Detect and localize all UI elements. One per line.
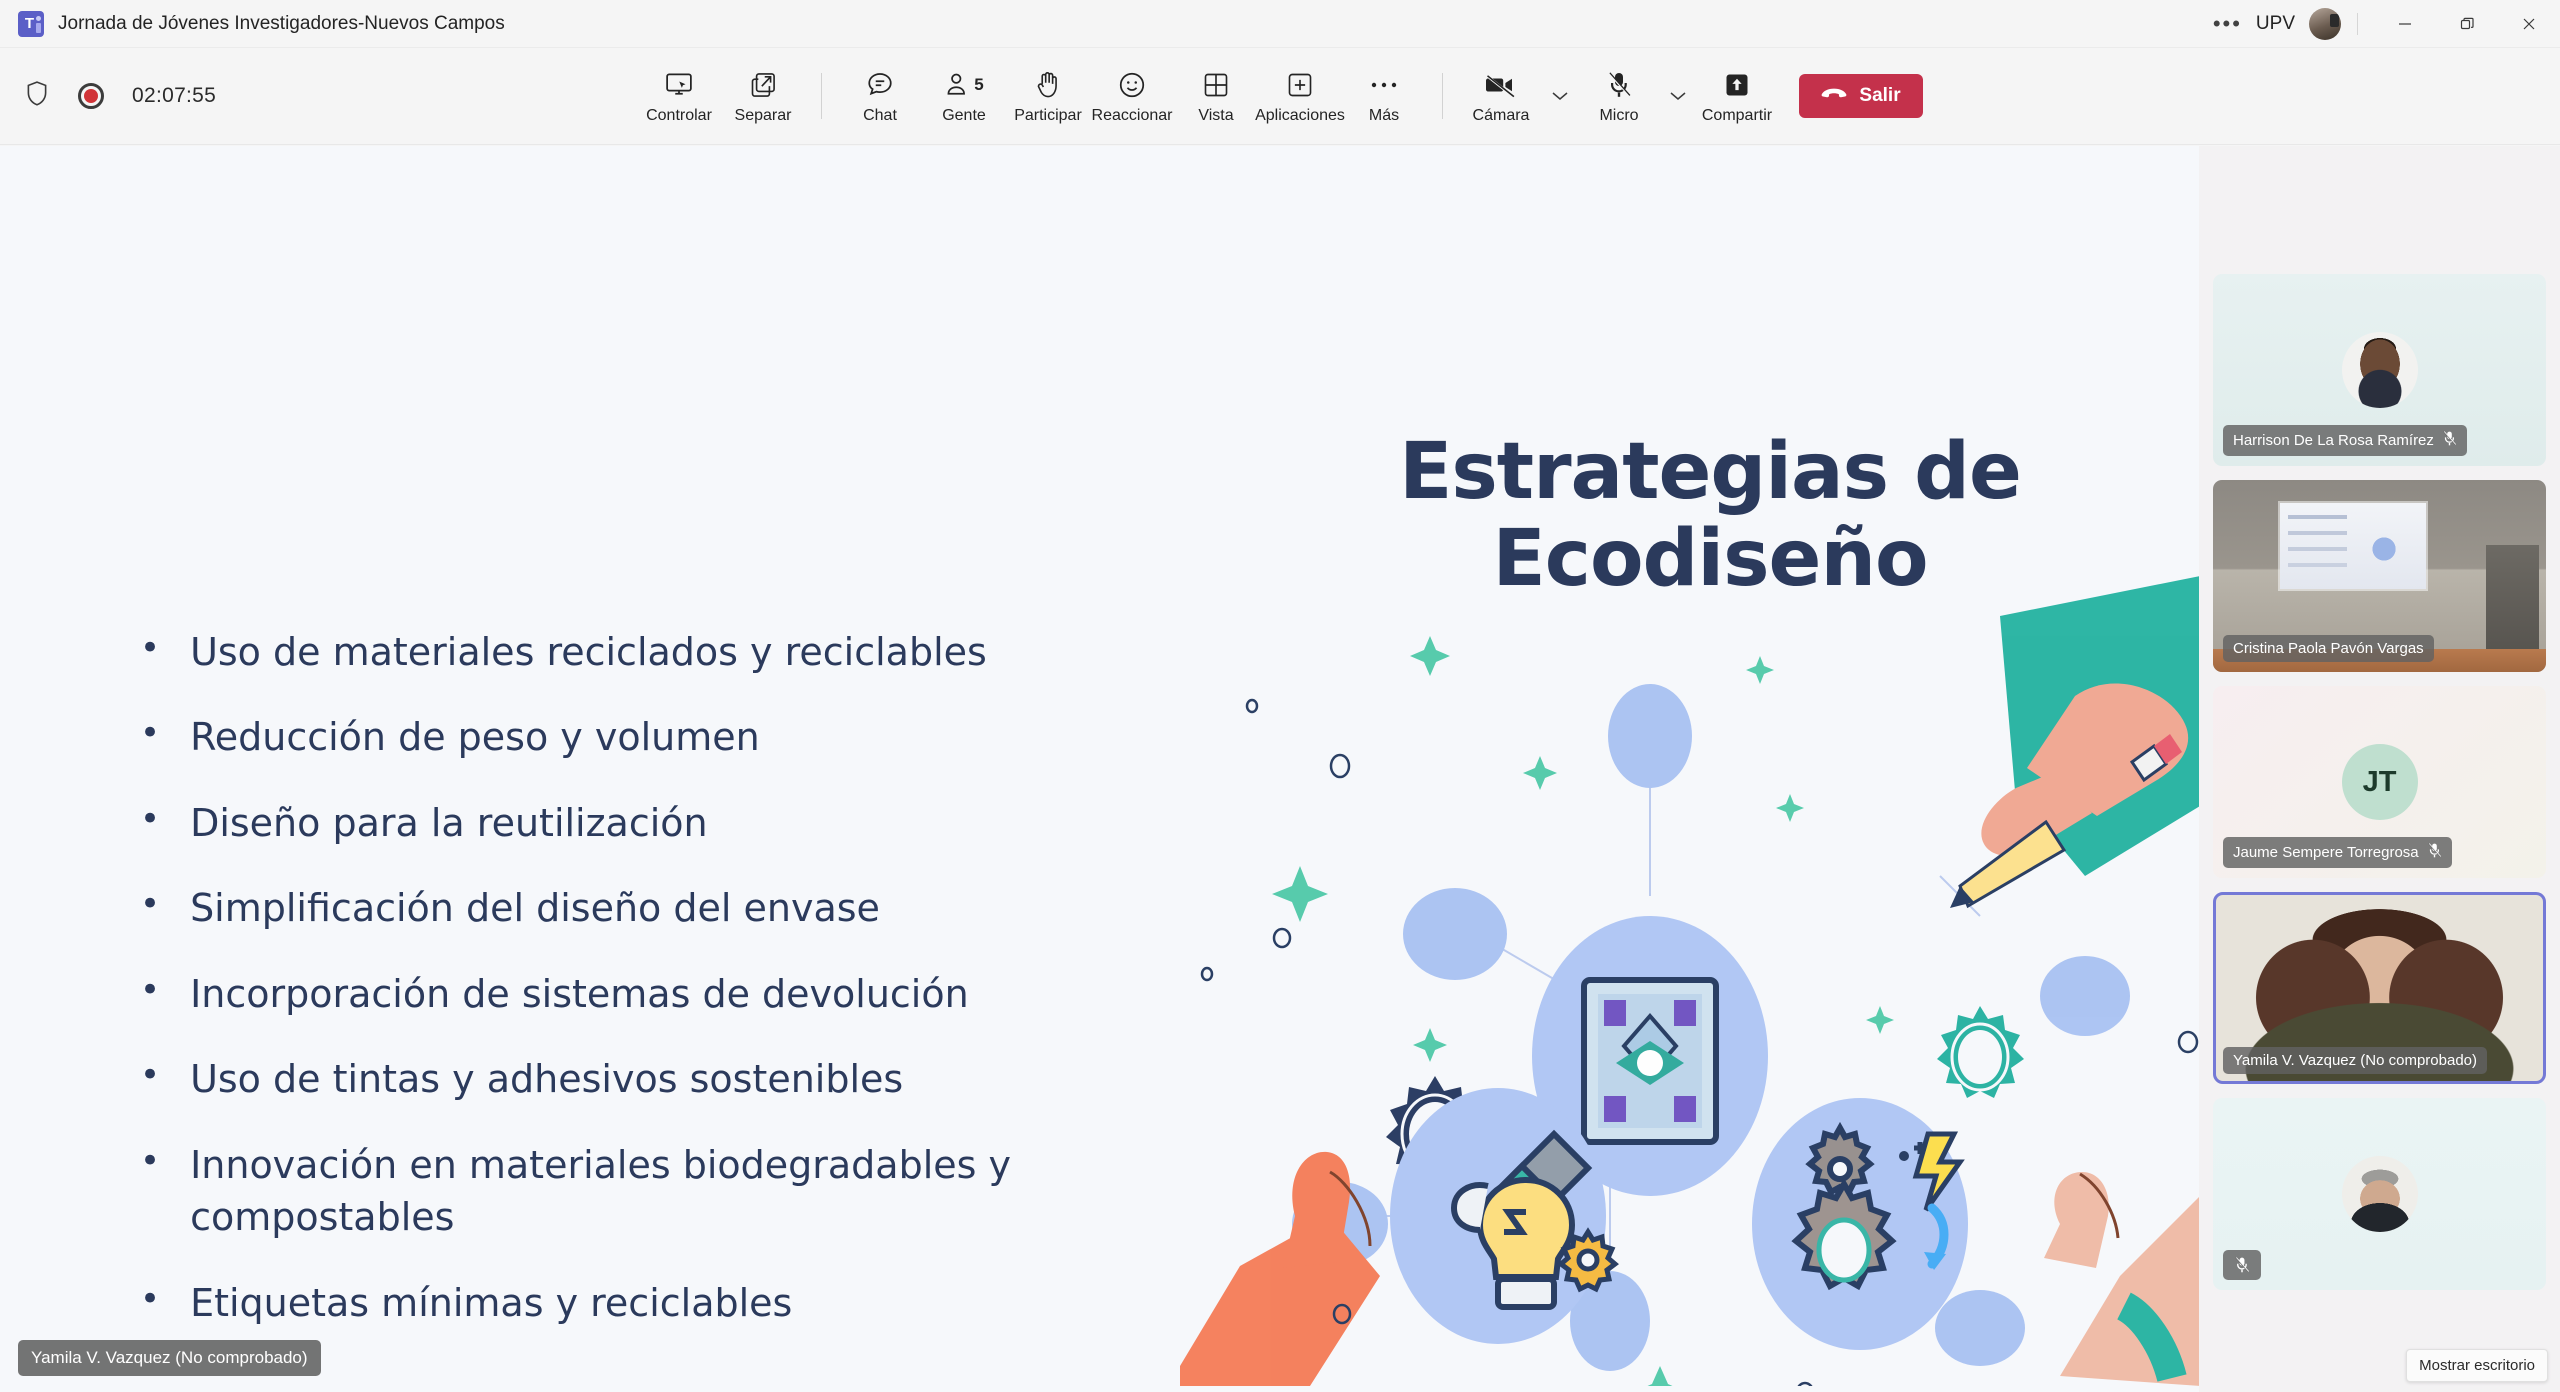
list-item: • Reducción de peso y volumen [140, 711, 1270, 763]
toolbar-label: Aplicaciones [1255, 108, 1345, 124]
give-control-icon [664, 69, 694, 101]
toolbar-label: Más [1369, 108, 1399, 124]
participants-rail[interactable]: Harrison De La Rosa Ramírez Cristina Pao… [2199, 146, 2560, 1392]
ecodesign-gears-hands-illustration [1180, 576, 2199, 1386]
participant-name: Jaume Sempere Torregrosa [2233, 844, 2419, 861]
bullet-text: Innovación en materiales biodegradables … [190, 1139, 1270, 1244]
list-item: • Diseño para la reutilización [140, 797, 1270, 849]
avatar[interactable] [2309, 8, 2341, 40]
toolbar-label: Chat [863, 108, 897, 124]
divider [2357, 13, 2358, 35]
toolbar-button-mas[interactable]: Más [1342, 48, 1426, 145]
avatar [2342, 332, 2418, 408]
slide-title-line-1: Estrategias de [1330, 429, 2090, 516]
bullet-text: Reducción de peso y volumen [190, 711, 1270, 763]
chevron-down-icon[interactable] [1543, 48, 1577, 145]
participant-name-chip: Yamila V. Vazquez (No comprobado) [2223, 1047, 2487, 1074]
bullet-marker: • [140, 882, 160, 928]
list-item: • Simplificación del diseño del envase [140, 882, 1270, 934]
bullet-text: Etiquetas mínimas y reciclables [190, 1277, 1270, 1329]
microphone-off-icon [2442, 430, 2457, 451]
bullet-marker: • [140, 1053, 160, 1099]
toolbar-label: Separar [735, 108, 792, 124]
participant-tile-unnamed[interactable] [2213, 1098, 2546, 1290]
raise-hand-icon [1034, 69, 1062, 101]
meeting-toolbar-left: 02:07:55 [0, 80, 216, 113]
reactions-smiley-icon [1117, 69, 1147, 101]
list-item: • Incorporación de sistemas de devolució… [140, 968, 1270, 1020]
bullet-text: Uso de materiales reciclados y reciclabl… [190, 626, 1270, 678]
shield-icon[interactable] [24, 80, 50, 113]
camera-off-icon [1485, 69, 1517, 101]
bullet-marker: • [140, 711, 160, 757]
avatar-initials: JT [2342, 744, 2418, 820]
avatar-initials-text: JT [2363, 766, 2397, 799]
more-horizontal-icon [1369, 69, 1399, 101]
participant-tile-harrison[interactable]: Harrison De La Rosa Ramírez [2213, 274, 2546, 466]
participant-tile-jaume[interactable]: JT Jaume Sempere Torregrosa [2213, 686, 2546, 878]
participant-name: Harrison De La Rosa Ramírez [2233, 432, 2434, 449]
list-item: • Uso de materiales reciclados y recicla… [140, 626, 1270, 678]
toolbar-divider [1442, 73, 1443, 119]
leave-call-button[interactable]: Salir [1799, 74, 1923, 118]
bullet-text: Uso de tintas y adhesivos sostenibles [190, 1053, 1270, 1105]
leave-label: Salir [1859, 85, 1900, 107]
participant-name: Yamila V. Vazquez (No comprobado) [2233, 1052, 2477, 1069]
toolbar-button-reaccionar[interactable]: Reaccionar [1090, 48, 1174, 145]
more-horizontal-icon[interactable]: ••• [2199, 11, 2256, 37]
list-item: • Etiquetas mínimas y reciclables [140, 1277, 1270, 1329]
meeting-toolbar-center: Controlar Separar Chat [637, 48, 1923, 145]
toolbar-label: Micro [1599, 108, 1638, 124]
hang-up-icon [1821, 85, 1847, 107]
toolbar-button-separar[interactable]: Separar [721, 48, 805, 145]
chevron-down-icon[interactable] [1661, 48, 1695, 145]
minimize-icon[interactable] [2374, 0, 2436, 48]
chat-icon [865, 69, 895, 101]
meeting-stage[interactable]: Estrategias de Ecodiseño • Uso de materi… [0, 146, 2199, 1392]
participant-tile-yamila[interactable]: Yamila V. Vazquez (No comprobado) [2213, 892, 2546, 1084]
apps-plus-icon [1286, 69, 1314, 101]
pop-out-icon [749, 69, 777, 101]
participant-name-chip: Cristina Paola Pavón Vargas [2223, 635, 2434, 662]
toolbar-button-aplicaciones[interactable]: Aplicaciones [1258, 48, 1342, 145]
toolbar-label: Controlar [646, 108, 712, 124]
toolbar-button-gente[interactable]: 5 Gente [922, 48, 1006, 145]
bullet-text: Diseño para la reutilización [190, 797, 1270, 849]
window-title-bar: T Jornada de Jóvenes Investigadores-Nuev… [0, 0, 2560, 48]
avatar [2342, 1156, 2418, 1232]
people-count-badge: 5 [974, 75, 983, 95]
window-title: Jornada de Jóvenes Investigadores-Nuevos… [58, 13, 505, 35]
bullet-marker: • [140, 1277, 160, 1323]
toolbar-button-vista[interactable]: Vista [1174, 48, 1258, 145]
participant-tile-cristina[interactable]: Cristina Paola Pavón Vargas [2213, 480, 2546, 672]
presenter-name-chip: Yamila V. Vazquez (No comprobado) [18, 1340, 321, 1376]
share-screen-icon [1723, 69, 1751, 101]
meeting-timer: 02:07:55 [132, 84, 216, 108]
toolbar-divider [821, 73, 822, 119]
participant-name-chip: Jaume Sempere Torregrosa [2223, 837, 2452, 868]
toolbar-button-chat[interactable]: Chat [838, 48, 922, 145]
title-bar-right: ••• UPV [2199, 0, 2560, 48]
microphone-off-icon [2427, 842, 2442, 863]
list-item: • Innovación en materiales biodegradable… [140, 1139, 1270, 1244]
toolbar-button-participar[interactable]: Participar [1006, 48, 1090, 145]
toolbar-button-camera[interactable]: Cámara [1459, 48, 1543, 145]
people-icon: 5 [944, 69, 983, 101]
slide-bullet-list: • Uso de materiales reciclados y recicla… [140, 626, 1270, 1362]
microphone-off-icon [1606, 69, 1632, 101]
bullet-marker: • [140, 626, 160, 672]
toolbar-label: Gente [942, 108, 986, 124]
microphone-off-icon [2223, 1250, 2261, 1280]
show-desktop-tooltip[interactable]: Mostrar escritorio [2406, 1349, 2548, 1382]
participant-name: Cristina Paola Pavón Vargas [2233, 640, 2424, 657]
toolbar-button-controlar[interactable]: Controlar [637, 48, 721, 145]
bullet-text: Simplificación del diseño del envase [190, 882, 1270, 934]
participant-name-chip: Harrison De La Rosa Ramírez [2223, 425, 2467, 456]
toolbar-label: Participar [1014, 108, 1082, 124]
bullet-marker: • [140, 1139, 160, 1185]
list-item: • Uso de tintas y adhesivos sostenibles [140, 1053, 1270, 1105]
bullet-text: Incorporación de sistemas de devolución [190, 968, 1270, 1020]
toolbar-button-mic[interactable]: Micro [1577, 48, 1661, 145]
toolbar-label: Vista [1198, 108, 1233, 124]
bullet-marker: • [140, 968, 160, 1014]
toolbar-label: Compartir [1702, 108, 1772, 124]
restore-icon[interactable] [2436, 0, 2498, 48]
meeting-toolbar: 02:07:55 Controlar Separar [0, 48, 2560, 145]
shared-slide: Estrategias de Ecodiseño • Uso de materi… [0, 146, 2199, 1392]
view-grid-icon [1202, 69, 1230, 101]
recording-indicator-icon [78, 83, 104, 109]
title-bar-left: T Jornada de Jóvenes Investigadores-Nuev… [0, 11, 505, 37]
teams-logo-icon: T [18, 11, 44, 37]
toolbar-button-compartir[interactable]: Compartir [1695, 48, 1779, 145]
bullet-marker: • [140, 797, 160, 843]
org-label: UPV [2256, 13, 2309, 35]
toolbar-label: Cámara [1473, 108, 1530, 124]
toolbar-label: Reaccionar [1092, 108, 1173, 124]
close-icon[interactable] [2498, 0, 2560, 48]
